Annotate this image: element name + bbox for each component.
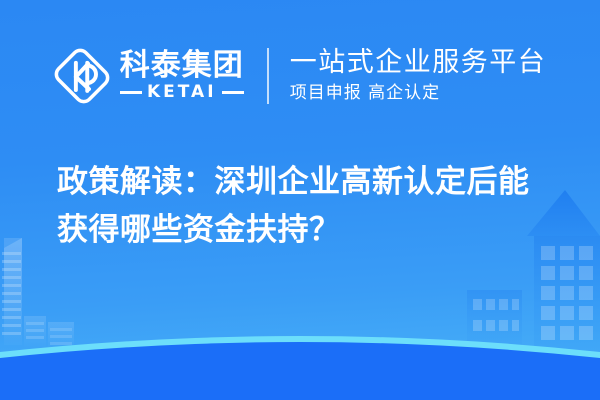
header-divider	[267, 48, 269, 104]
brand-logo[interactable]: 科泰集团 KETAI	[54, 48, 244, 104]
tagline-sub: 项目申报 高企认定	[290, 83, 547, 104]
company-name-en: KETAI	[147, 84, 217, 101]
company-name-cn: 科泰集团	[120, 51, 244, 82]
right-low-building	[467, 290, 522, 352]
promo-banner: 科泰集团 KETAI 一站式企业服务平台 项目申报 高企认定 政策解读：深圳企业…	[0, 0, 600, 400]
logo-wordmark: 科泰集团 KETAI	[120, 51, 244, 102]
bottom-curve-arc	[0, 336, 600, 400]
banner-header: 科泰集团 KETAI 一站式企业服务平台 项目申报 高企认定	[0, 36, 600, 116]
kp-diamond-logo-icon	[54, 48, 110, 104]
left-mid-building	[24, 316, 46, 348]
left-small-building	[48, 322, 74, 349]
page-title: 政策解读：深圳企业高新认定后能获得哪些资金扶持？	[57, 158, 557, 254]
logo-en-row: KETAI	[120, 84, 244, 101]
logo-rule-right	[222, 91, 244, 94]
tagline-main: 一站式企业服务平台	[290, 48, 547, 78]
logo-rule-left	[120, 91, 142, 94]
tagline-block: 一站式企业服务平台 项目申报 高企认定	[290, 48, 547, 104]
left-tall-tower	[2, 238, 22, 345]
